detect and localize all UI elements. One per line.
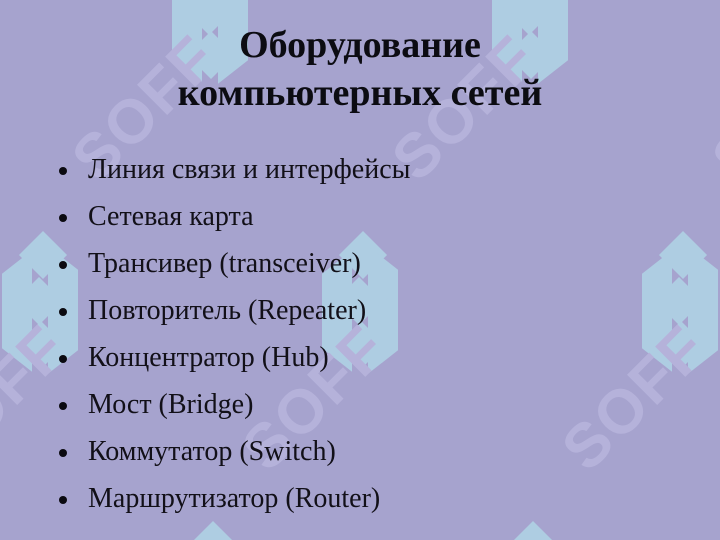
- list-item-label: Концентратор (Hub): [88, 338, 329, 378]
- list-item-label: Мост (Bridge): [88, 385, 253, 425]
- bullet-dot-icon: [59, 496, 67, 504]
- list-item-label: Повторитель (Repeater): [88, 291, 366, 331]
- list-item: Повторитель (Repeater): [50, 291, 700, 338]
- list-item: Коммутатор (Switch): [50, 432, 700, 479]
- bullet-dot-icon: [59, 167, 67, 175]
- list-item: Сетевая карта: [50, 197, 700, 244]
- bullet-dot-icon: [59, 355, 67, 363]
- slide-title-line-2: компьютерных сетей: [0, 70, 720, 118]
- list-item: Линия связи и интерфейсы: [50, 150, 700, 197]
- list-item-label: Маршрутизатор (Router): [88, 479, 380, 519]
- bullet-dot-icon: [59, 308, 67, 316]
- list-item-label: Коммутатор (Switch): [88, 432, 336, 472]
- list-item-label: Трансивер (transceiver): [88, 244, 361, 284]
- bullet-dot-icon: [59, 214, 67, 222]
- list-item: Мост (Bridge): [50, 385, 700, 432]
- slide-title-line-1: Оборудование: [0, 22, 720, 70]
- slide-title: Оборудование компьютерных сетей: [0, 22, 720, 118]
- bullet-dot-icon: [59, 402, 67, 410]
- slide-content: Оборудование компьютерных сетей Линия св…: [0, 0, 720, 540]
- bullet-dot-icon: [59, 449, 67, 457]
- list-item-label: Сетевая карта: [88, 197, 254, 237]
- presentation-slide: SOFFSOFFSOFFSOFFSOFFSOFFSOFFSOFFSOFFSOFF…: [0, 0, 720, 540]
- bullet-dot-icon: [59, 261, 67, 269]
- list-item: Концентратор (Hub): [50, 338, 700, 385]
- equipment-bullet-list: Линия связи и интерфейсы Сетевая карта Т…: [50, 150, 700, 526]
- list-item: Трансивер (transceiver): [50, 244, 700, 291]
- list-item-label: Линия связи и интерфейсы: [88, 150, 410, 190]
- list-item: Маршрутизатор (Router): [50, 479, 700, 526]
